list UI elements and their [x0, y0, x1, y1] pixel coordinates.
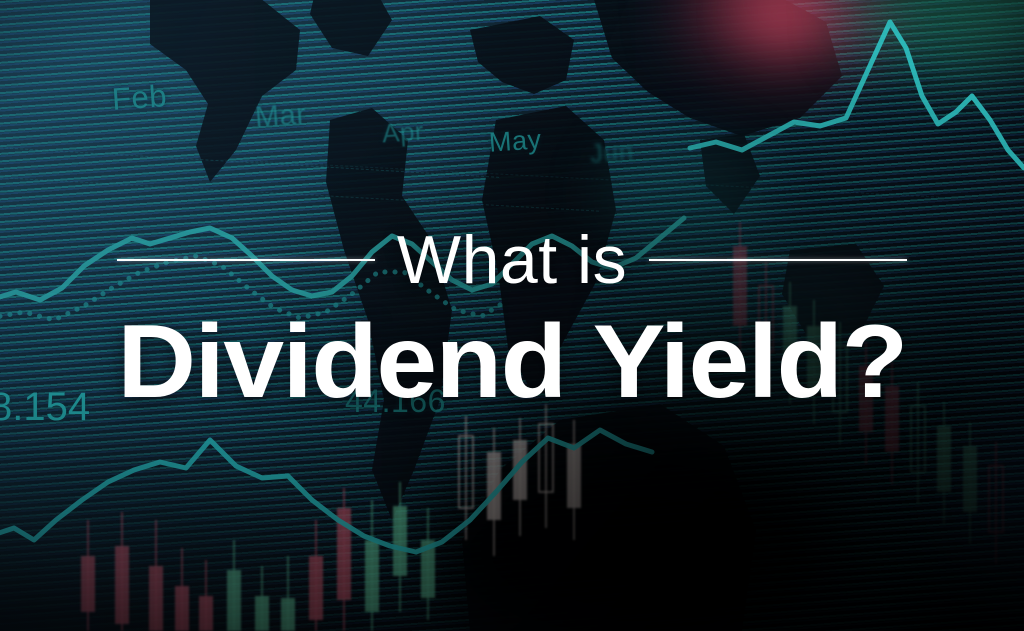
- bottom-shade: [0, 0, 1024, 631]
- promo-banner: Feb Mar Apr May Jun 8.154 44.166 What is…: [0, 0, 1024, 631]
